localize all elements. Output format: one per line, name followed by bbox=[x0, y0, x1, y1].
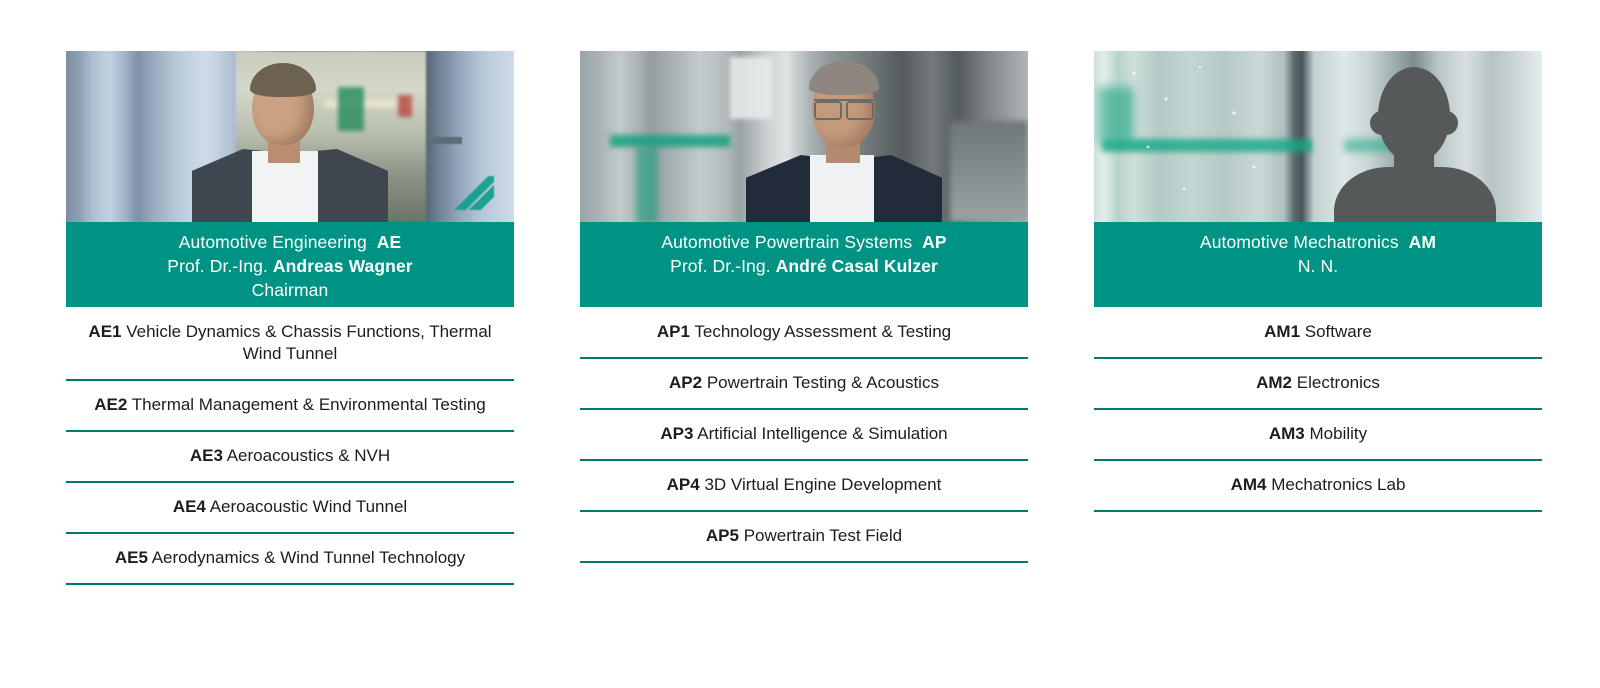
list-item: AE1 Vehicle Dynamics & Chassis Functions… bbox=[66, 307, 514, 381]
corridor-depth-shape bbox=[950, 121, 1028, 222]
item-desc: Powertrain Testing & Acoustics bbox=[707, 373, 939, 392]
item-code: AM1 bbox=[1264, 322, 1300, 341]
person-shirt-shape bbox=[810, 155, 874, 222]
item-desc: Aeroacoustics & NVH bbox=[227, 446, 390, 465]
list-item: AM4 Mechatronics Lab bbox=[1094, 461, 1542, 512]
item-code: AE3 bbox=[190, 446, 223, 465]
list-item: AE2 Thermal Management & Environmental T… bbox=[66, 381, 514, 432]
water-droplets-texture bbox=[1104, 51, 1284, 222]
item-code: AM2 bbox=[1256, 373, 1292, 392]
item-code: AP5 bbox=[706, 526, 739, 545]
department-code: AM bbox=[1409, 232, 1436, 252]
item-desc: Powertrain Test Field bbox=[744, 526, 902, 545]
door-handle-shape bbox=[432, 137, 462, 144]
department-name-line: Automotive Powertrain Systems AP bbox=[661, 230, 946, 254]
green-stripe-vertical-shape bbox=[636, 147, 658, 222]
person-silhouette-icon bbox=[1340, 67, 1490, 222]
portrait-andre-casal-kulzer-photo bbox=[580, 51, 1028, 222]
org-chart-board: Automotive Engineering AE Prof. Dr.-Ing.… bbox=[0, 0, 1600, 688]
list-item: AE3 Aeroacoustics & NVH bbox=[66, 432, 514, 483]
department-name: Automotive Mechatronics bbox=[1200, 232, 1399, 252]
item-desc: Aerodynamics & Wind Tunnel Technology bbox=[152, 548, 465, 567]
department-code: AE bbox=[377, 232, 402, 252]
item-desc: Mechatronics Lab bbox=[1271, 475, 1405, 494]
department-banner-ae: Automotive Engineering AE Prof. Dr.-Ing.… bbox=[66, 222, 514, 307]
item-desc: Artificial Intelligence & Simulation bbox=[697, 424, 947, 443]
item-desc: Electronics bbox=[1297, 373, 1380, 392]
item-desc: 3D Virtual Engine Development bbox=[704, 475, 941, 494]
green-panel-shape bbox=[338, 87, 364, 131]
item-desc: Vehicle Dynamics & Chassis Functions, Th… bbox=[126, 322, 491, 363]
department-banner-ap: Automotive Powertrain Systems AP Prof. D… bbox=[580, 222, 1028, 307]
department-column-ap: Automotive Powertrain Systems AP Prof. D… bbox=[580, 51, 1028, 688]
list-item: AP3 Artificial Intelligence & Simulation bbox=[580, 410, 1028, 461]
arrow-sign-icon bbox=[454, 176, 494, 210]
list-item: AM1 Software bbox=[1094, 307, 1542, 359]
department-code: AP bbox=[922, 232, 947, 252]
green-stripe-shape bbox=[610, 135, 730, 147]
department-banner-am: Automotive Mechatronics AM N. N. bbox=[1094, 222, 1542, 307]
item-desc: Mobility bbox=[1310, 424, 1368, 443]
item-code: AE2 bbox=[94, 395, 127, 414]
department-column-am: Automotive Mechatronics AM N. N. AM1 Sof… bbox=[1094, 51, 1542, 688]
eyeglasses-icon bbox=[814, 99, 874, 117]
item-desc: Thermal Management & Environmental Testi… bbox=[132, 395, 486, 414]
academic-title: Prof. Dr.-Ing. bbox=[167, 256, 268, 276]
item-desc: Aeroacoustic Wind Tunnel bbox=[210, 497, 408, 516]
institute-list-ap: AP1 Technology Assessment & Testing AP2 … bbox=[580, 307, 1028, 563]
portrait-andreas-wagner-photo bbox=[66, 51, 514, 222]
institute-list-am: AM1 Software AM2 Electronics AM3 Mobilit… bbox=[1094, 307, 1542, 512]
item-code: AM3 bbox=[1269, 424, 1305, 443]
list-item: AE5 Aerodynamics & Wind Tunnel Technolog… bbox=[66, 534, 514, 585]
portrait-placeholder-photo bbox=[1094, 51, 1542, 222]
list-item: AM2 Electronics bbox=[1094, 359, 1542, 410]
department-head-role: Chairman bbox=[252, 278, 329, 302]
list-item: AP2 Powertrain Testing & Acoustics bbox=[580, 359, 1028, 410]
item-code: AP2 bbox=[669, 373, 702, 392]
list-item: AE4 Aeroacoustic Wind Tunnel bbox=[66, 483, 514, 534]
department-name: Automotive Powertrain Systems bbox=[661, 232, 912, 252]
item-code: AM4 bbox=[1231, 475, 1267, 494]
department-head-name: André Casal Kulzer bbox=[776, 256, 938, 276]
item-code: AE4 bbox=[173, 497, 206, 516]
item-code: AE5 bbox=[115, 548, 148, 567]
item-code: AE1 bbox=[88, 322, 121, 341]
list-item: AP5 Powertrain Test Field bbox=[580, 512, 1028, 563]
department-head-name: Andreas Wagner bbox=[273, 256, 413, 276]
list-item: AP1 Technology Assessment & Testing bbox=[580, 307, 1028, 359]
department-head-line: Prof. Dr.-Ing. André Casal Kulzer bbox=[670, 254, 938, 278]
department-name-line: Automotive Engineering AE bbox=[179, 230, 401, 254]
institute-list-ae: AE1 Vehicle Dynamics & Chassis Functions… bbox=[66, 307, 514, 585]
department-head-line: N. N. bbox=[1298, 254, 1338, 278]
list-item: AM3 Mobility bbox=[1094, 410, 1542, 461]
item-desc: Technology Assessment & Testing bbox=[694, 322, 951, 341]
window-light-shape bbox=[730, 57, 772, 119]
department-head-line: Prof. Dr.-Ing. Andreas Wagner bbox=[167, 254, 412, 278]
list-item: AP4 3D Virtual Engine Development bbox=[580, 461, 1028, 512]
silhouette-head-shape bbox=[1378, 67, 1450, 161]
item-desc: Software bbox=[1305, 322, 1372, 341]
item-code: AP1 bbox=[657, 322, 690, 341]
academic-title: Prof. Dr.-Ing. bbox=[670, 256, 771, 276]
department-name-line: Automotive Mechatronics AM bbox=[1200, 230, 1436, 254]
red-panel-shape bbox=[398, 95, 412, 117]
department-column-ae: Automotive Engineering AE Prof. Dr.-Ing.… bbox=[66, 51, 514, 688]
item-code: AP4 bbox=[667, 475, 700, 494]
item-code: AP3 bbox=[660, 424, 693, 443]
department-name: Automotive Engineering bbox=[179, 232, 367, 252]
